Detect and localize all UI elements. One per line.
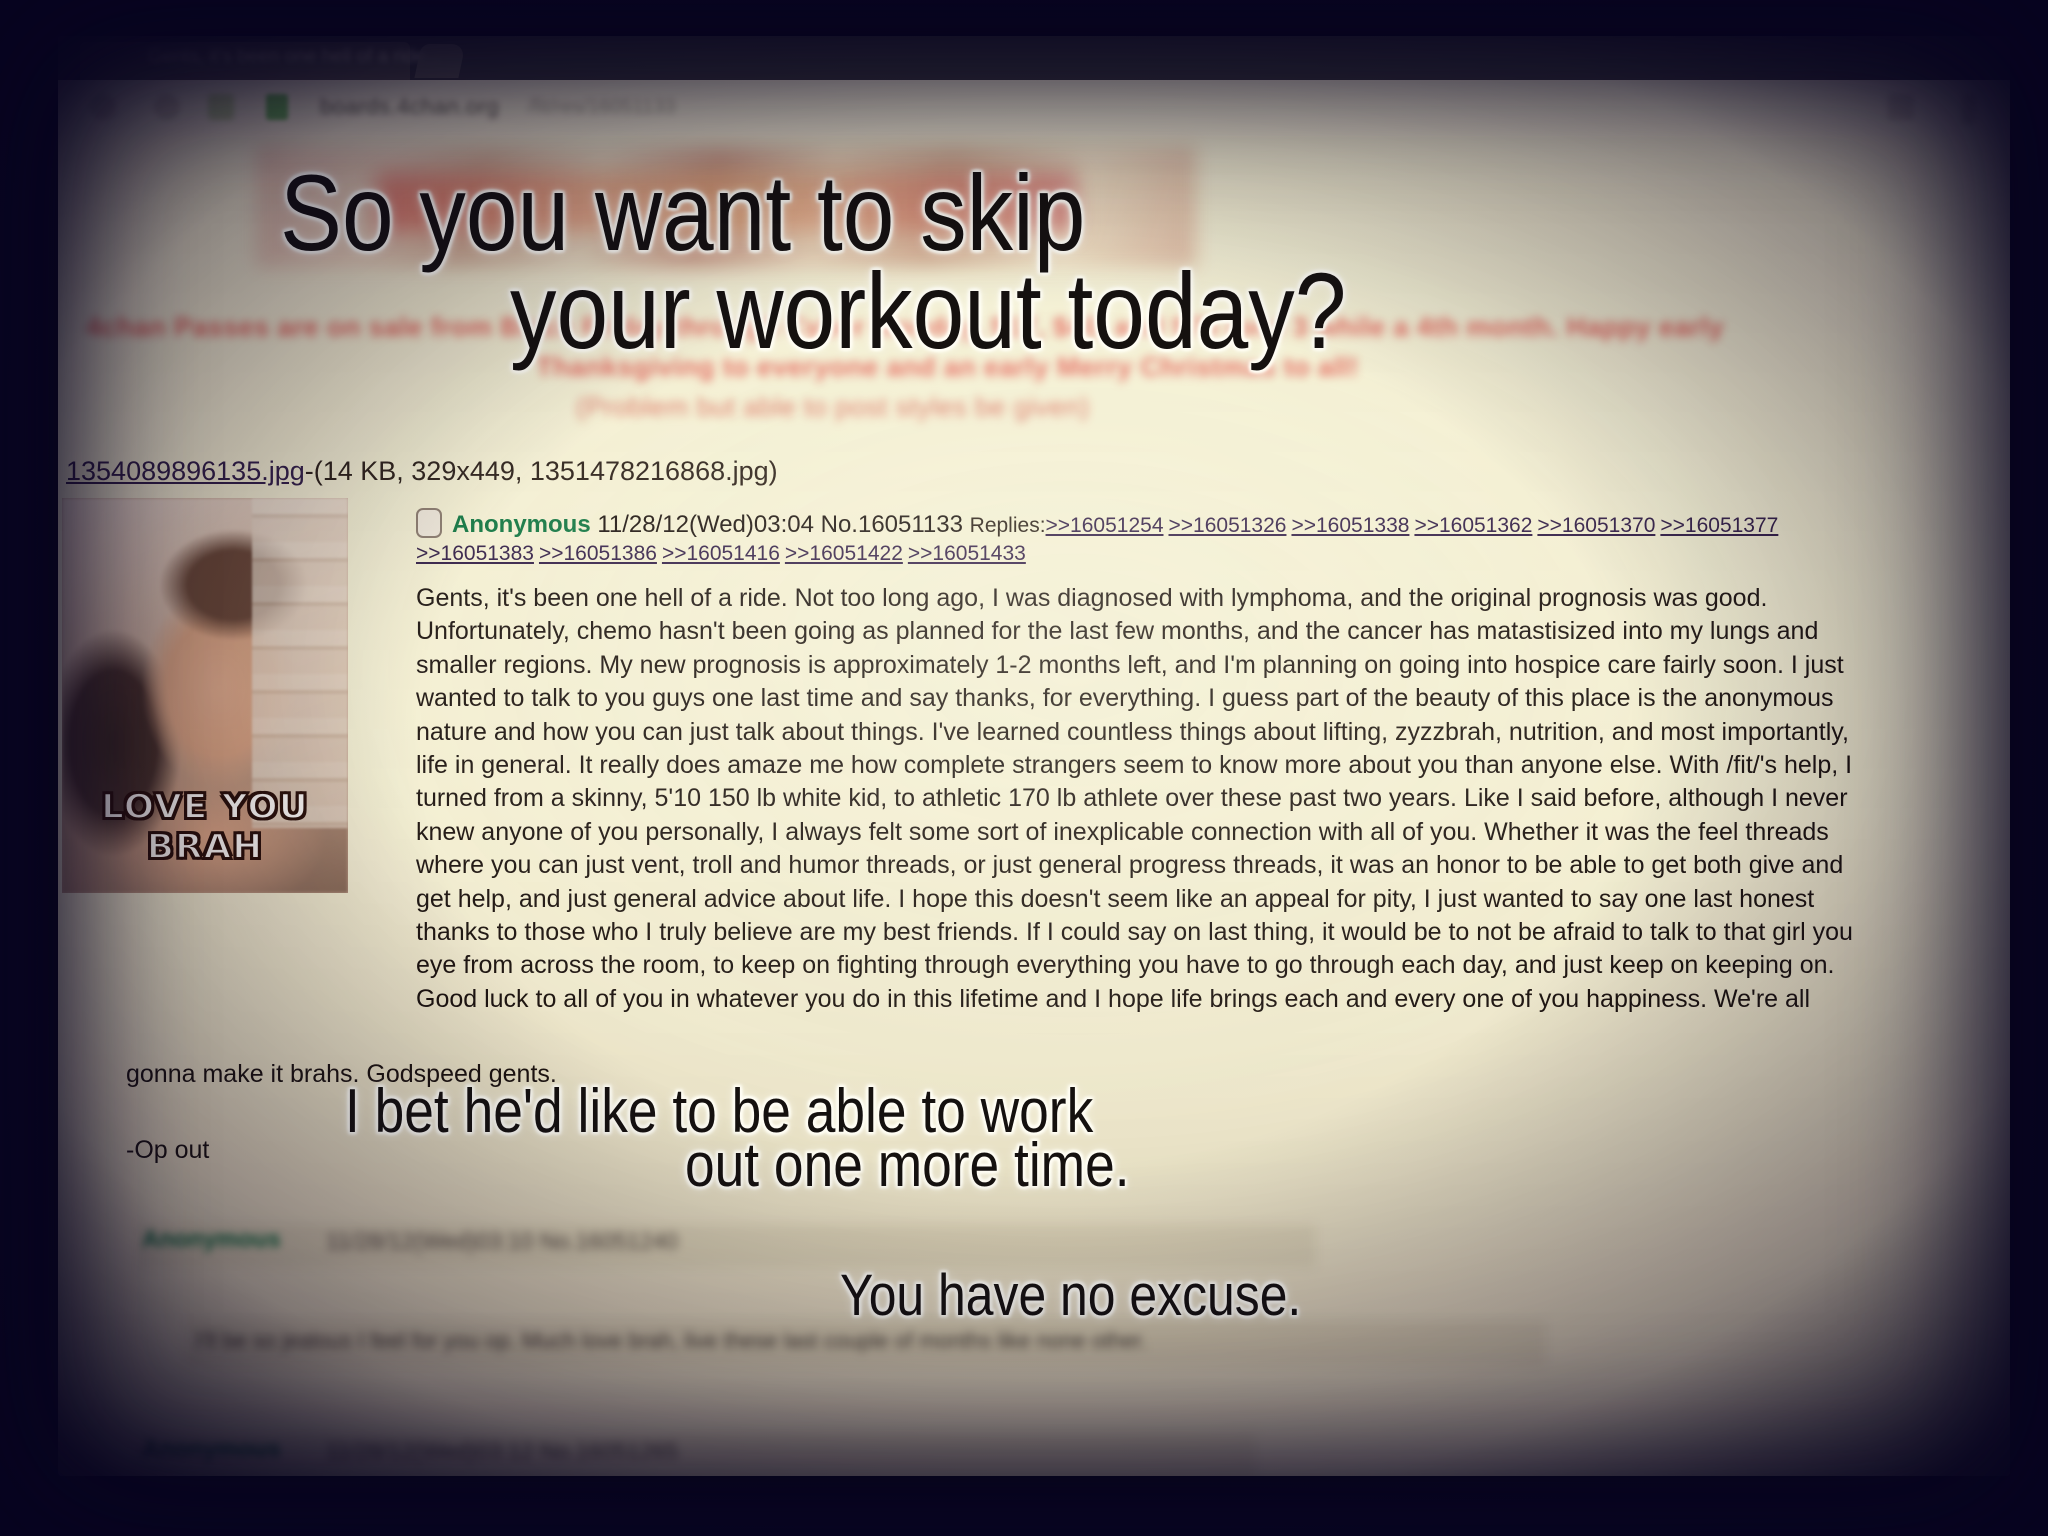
reply-quote-link-4[interactable]: >>16051433 — [908, 542, 1026, 565]
file-link[interactable]: 1354089896135.jpg — [66, 456, 305, 486]
post-body-line: knew anyone of you personally, I always … — [416, 816, 1981, 849]
reply-quote-link-2[interactable]: >>16051338 — [1291, 514, 1409, 537]
star-icon[interactable] — [1888, 94, 1914, 120]
post-body-line: Gents, it's been one hell of a ride. Not… — [416, 582, 1981, 615]
new-tab-button[interactable] — [414, 44, 465, 78]
reply-links-row-2: >>16051383>>16051386>>16051416>>16051422… — [416, 539, 1986, 567]
file-meta: -(14 KB, 329x449, 1351478216868.jpg) — [305, 456, 778, 486]
reply-text-1: I'll be so jealous I feel for you op. Mu… — [196, 1328, 1147, 1354]
browser-chrome: Gents, it's been one hell of a ride... b… — [58, 36, 2010, 136]
back-arrow-icon[interactable] — [90, 94, 116, 120]
caption-line-5: You have no excuse. — [840, 1262, 1301, 1329]
announcement-line-3: (Problem but able to post styles be give… — [576, 392, 1090, 423]
reply-quote-link-0[interactable]: >>16051383 — [416, 542, 534, 565]
reply-links-row-1: >>16051254>>16051326>>16051338>>16051362… — [1046, 511, 1784, 538]
reply-quote-link-2[interactable]: >>16051416 — [662, 542, 780, 565]
post-body-line: life in general. It really does amaze me… — [416, 749, 1981, 782]
reply-name-2: Anonymous — [142, 1436, 281, 1464]
url-path-text: /fit/res/16051133 — [528, 96, 676, 119]
meme-canvas: Gents, it's been one hell of a ride... b… — [0, 0, 2048, 1536]
post-body-line: Good luck to all of you in whatever you … — [416, 983, 1981, 1016]
browser-tab-title: Gents, it's been one hell of a ride... — [148, 46, 441, 68]
thumbnail-caption: LOVE YOU BRAH — [62, 787, 348, 867]
post-body-line: eye from across the room, to keep on fig… — [416, 949, 1981, 982]
reply-meta-2: 11/28/12(Wed)03:12 No.16051265 — [326, 1438, 678, 1465]
browser-url-bar[interactable]: boards.4chan.org /fit/res/16051133 — [58, 80, 2010, 136]
caption-line-4: out one more time. — [685, 1130, 1130, 1201]
reply-meta-1: 11/28/12(Wed)03:10 No.16051240 — [326, 1228, 678, 1255]
post-number[interactable]: No.16051133 — [821, 511, 963, 538]
reply-quote-link-3[interactable]: >>16051362 — [1414, 514, 1532, 537]
post-body-line: Unfortunately, chemo hasn't been going a… — [416, 615, 1981, 648]
post-body-line: wanted to talk to you guys one last time… — [416, 682, 1981, 715]
post-checkbox[interactable] — [416, 508, 442, 538]
reply-quote-link-5[interactable]: >>16051377 — [1660, 514, 1778, 537]
reload-icon[interactable] — [154, 94, 180, 120]
browser-tabstrip: Gents, it's been one hell of a ride... — [58, 36, 2010, 80]
reply-quote-link-3[interactable]: >>16051422 — [785, 542, 903, 565]
poster-name: Anonymous — [452, 511, 591, 538]
url-text: boards.4chan.org — [320, 94, 499, 120]
menu-icon[interactable] — [1962, 94, 1976, 124]
post-header: Anonymous 11/28/12(Wed)03:04 No.16051133… — [416, 508, 1986, 568]
home-icon[interactable] — [208, 94, 234, 120]
caption-line-2: your workout today? — [510, 248, 1346, 373]
post-signature: -Op out — [126, 1136, 209, 1165]
post-body-line: thanks to those who I truly believe are … — [416, 916, 1981, 949]
post-body-line: nature and how you can just talk about t… — [416, 716, 1981, 749]
reply-quote-link-4[interactable]: >>16051370 — [1537, 514, 1655, 537]
post-body: Gents, it's been one hell of a ride. Not… — [416, 582, 1981, 1016]
reply-quote-link-0[interactable]: >>16051254 — [1046, 514, 1164, 537]
replies-label: Replies: — [970, 514, 1046, 537]
thumbnail-background-shelf — [252, 498, 348, 828]
reply-quote-link-1[interactable]: >>16051326 — [1169, 514, 1287, 537]
lock-icon — [266, 94, 288, 120]
reply-quote-link-1[interactable]: >>16051386 — [539, 542, 657, 565]
file-info-line: 1354089896135.jpg-(14 KB, 329x449, 13514… — [66, 456, 778, 487]
post-timestamp: 11/28/12(Wed)03:04 — [597, 511, 814, 538]
post-body-line: turned from a skinny, 5'10 150 lb white … — [416, 782, 1981, 815]
reply-name-1: Anonymous — [142, 1226, 281, 1254]
post-body-line: get help, and just general advice about … — [416, 883, 1981, 916]
reply-block-3 — [136, 1434, 1256, 1476]
post-body-line: smaller regions. My new prognosis is app… — [416, 649, 1981, 682]
post-thumbnail[interactable]: LOVE YOU BRAH — [62, 498, 348, 893]
post-body-line: where you can just vent, troll and humor… — [416, 849, 1981, 882]
